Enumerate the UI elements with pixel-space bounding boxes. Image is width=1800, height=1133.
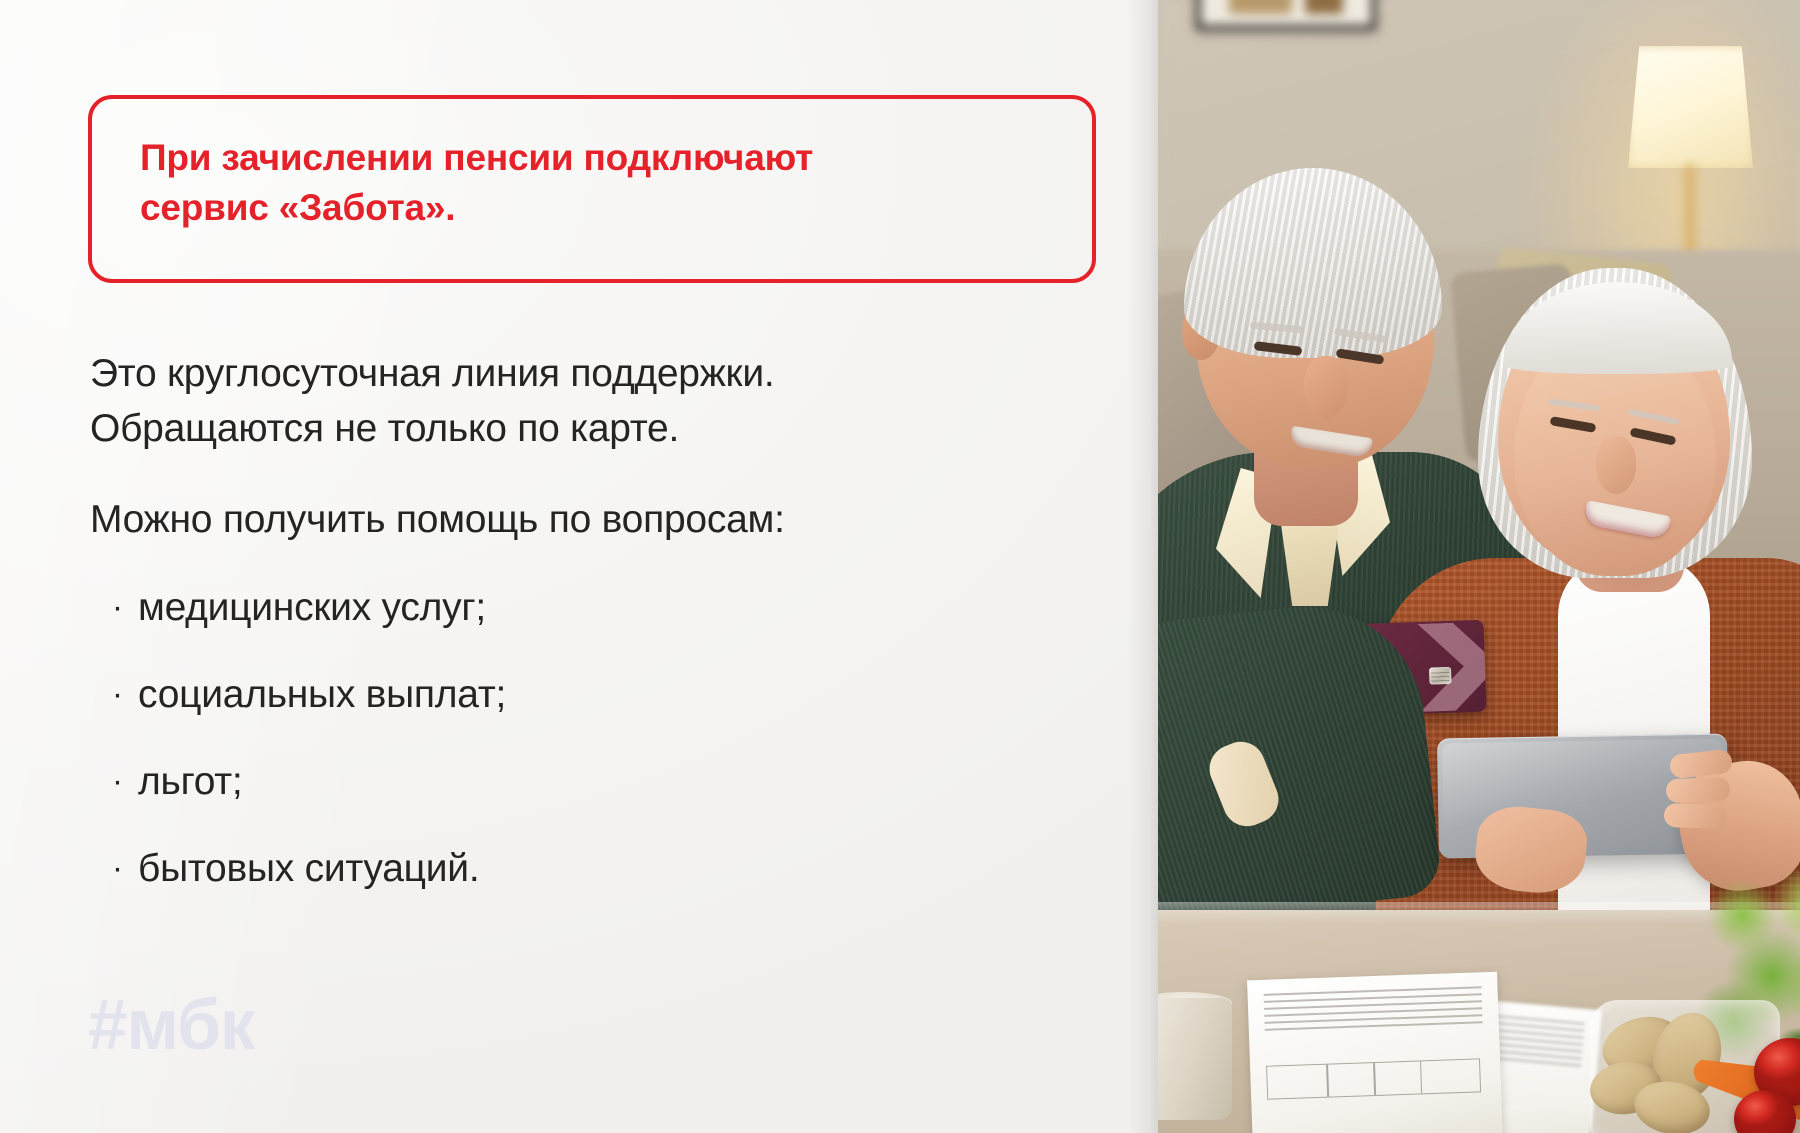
body-paragraph-support-line: Это круглосуточная линия поддержки. Обра… xyxy=(90,347,1090,456)
woman-nose xyxy=(1596,436,1636,494)
picture-shape-b xyxy=(1305,0,1343,14)
woman-finger xyxy=(1666,777,1731,803)
document-sheet xyxy=(1247,972,1503,1133)
bullet-dot-icon: · xyxy=(112,670,138,716)
card-chip-icon xyxy=(1429,667,1452,685)
slide-root: При зачислении пенсии подключают сервис … xyxy=(0,0,1800,1133)
list-item: · медицинских услуг; xyxy=(112,583,1112,670)
list-item-label: социальных выплат; xyxy=(138,670,506,721)
woman-finger xyxy=(1664,803,1727,829)
bullet-dot-icon: · xyxy=(112,844,138,890)
photo-elderly-couple: МКБ xyxy=(1158,0,1800,1133)
list-item-label: бытовых ситуаций. xyxy=(138,844,479,895)
bullet-dot-icon: · xyxy=(112,583,138,629)
picture-shape-a xyxy=(1229,0,1292,14)
picture-mat xyxy=(1207,0,1365,19)
list-item-label: медицинских услуг; xyxy=(138,583,486,634)
mug xyxy=(1158,998,1232,1120)
list-item: · бытовых ситуаций. xyxy=(112,844,1112,931)
bullet-dot-icon: · xyxy=(112,757,138,803)
framed-picture xyxy=(1196,0,1376,30)
lamp-shade xyxy=(1628,46,1753,168)
help-topics-list: · медицинских услуг; · социальных выплат… xyxy=(112,583,1112,931)
man-nose xyxy=(1304,356,1348,418)
highlight-callout-box: При зачислении пенсии подключают сервис … xyxy=(88,95,1096,283)
list-item-label: льгот; xyxy=(138,757,242,808)
body-paragraph-help-intro: Можно получить помощь по вопросам: xyxy=(90,493,1090,548)
panel-photo-divider xyxy=(1128,0,1162,1133)
list-item: · льгот; xyxy=(112,757,1112,844)
list-item: · социальных выплат; xyxy=(112,670,1112,757)
callout-title: При зачислении пенсии подключают сервис … xyxy=(140,133,1052,232)
watermark-mbk: #мбк xyxy=(88,985,254,1066)
card-chevron-logo-icon xyxy=(1417,621,1486,712)
